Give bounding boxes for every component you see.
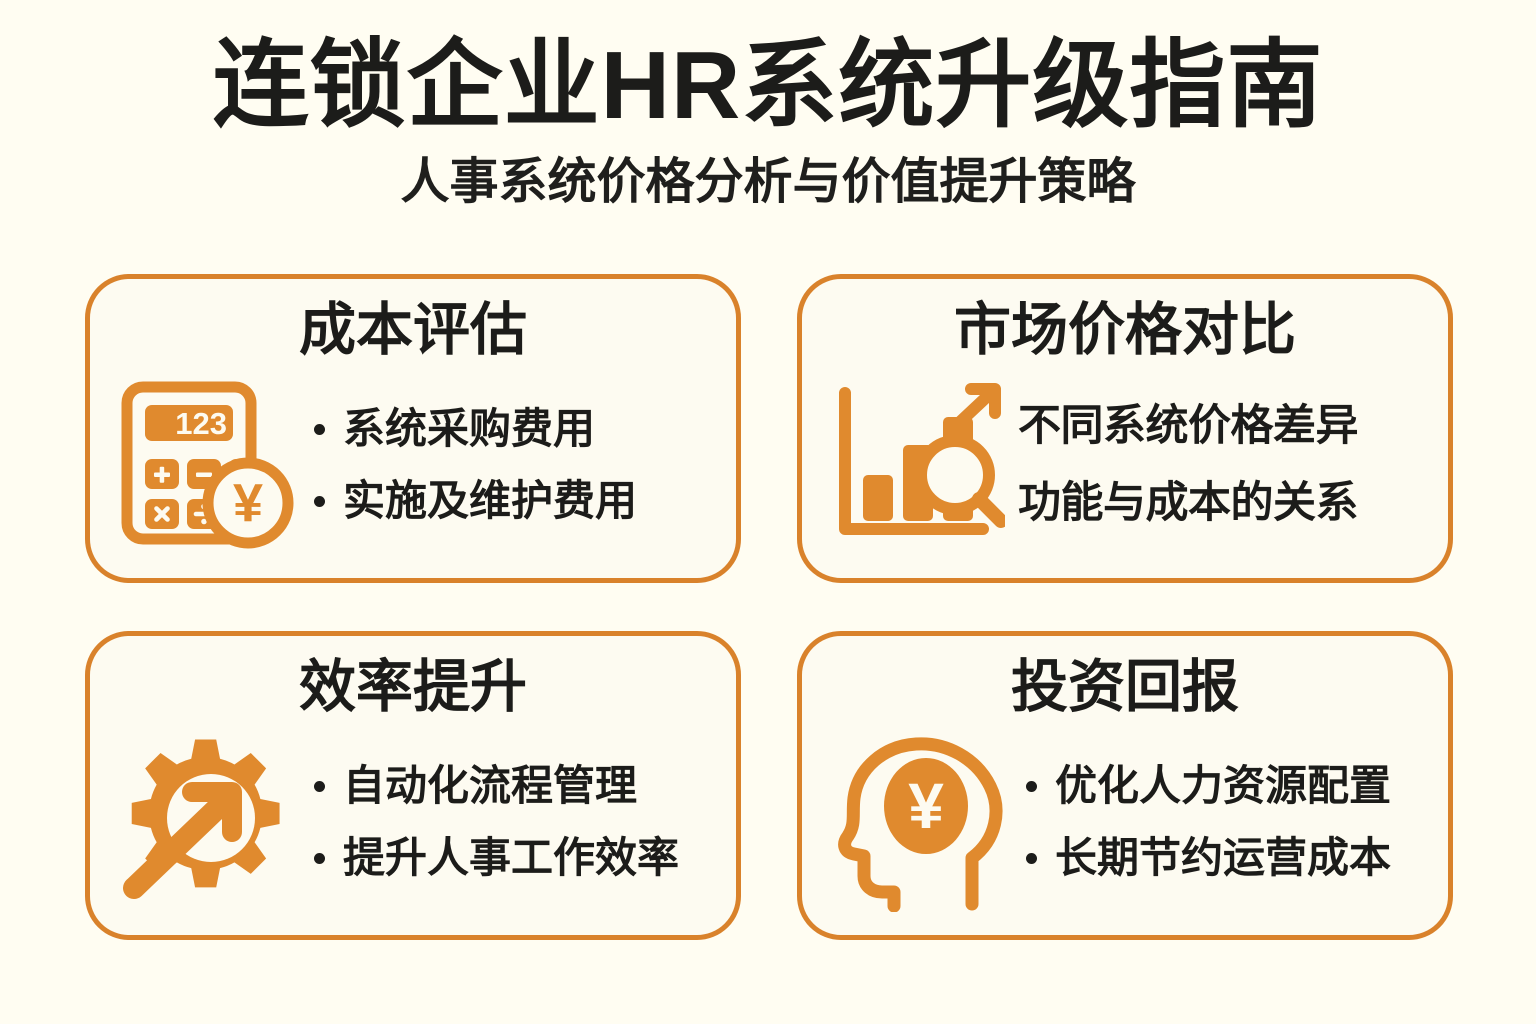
card-cost-evaluation[interactable]: 成本评估 123 — [85, 274, 741, 583]
list-item: 不同系统价格差异 — [1018, 403, 1428, 450]
head-yen-icon: ¥ — [822, 732, 1022, 912]
card-title: 投资回报 — [1011, 656, 1239, 720]
card-body: ¥ 优化人力资源配置 长期节约运营成本 — [822, 720, 1428, 925]
page-subtitle: 人事系统价格分析与价值提升策略 — [0, 154, 1536, 210]
list-item: 系统采购费用 — [314, 406, 716, 452]
list-item: 自动化流程管理 — [314, 763, 716, 809]
card-body: 自动化流程管理 提升人事工作效率 — [110, 720, 716, 925]
calculator-display-value: 123 — [175, 406, 227, 441]
calculator-yen-icon: 123 — [110, 375, 310, 555]
card-return-on-investment[interactable]: 投资回报 ¥ 优化人力资源配置 长期节约运营成本 — [797, 631, 1453, 940]
page-title: 连锁企业HR系统升级指南 — [0, 34, 1536, 138]
card-bullet-list: 自动化流程管理 提升人事工作效率 — [310, 763, 716, 881]
gear-arrow-icon — [110, 732, 310, 912]
list-item: 功能与成本的关系 — [1018, 480, 1428, 527]
card-bullet-list: 系统采购费用 实施及维护费用 — [310, 406, 716, 524]
yen-symbol: ¥ — [908, 770, 944, 842]
bar-chart-magnifier-icon — [822, 375, 1008, 555]
card-bullet-list: 不同系统价格差异 功能与成本的关系 — [1008, 403, 1428, 528]
card-efficiency-improvement[interactable]: 效率提升 自动化流程管理 — [85, 631, 741, 940]
card-bullet-list: 优化人力资源配置 长期节约运营成本 — [1022, 763, 1428, 881]
list-item: 优化人力资源配置 — [1026, 763, 1428, 809]
list-item: 实施及维护费用 — [314, 478, 716, 524]
list-item: 长期节约运营成本 — [1026, 835, 1428, 881]
card-body: 不同系统价格差异 功能与成本的关系 — [822, 363, 1428, 568]
card-market-price-comparison[interactable]: 市场价格对比 — [797, 274, 1453, 583]
poster-header: 连锁企业HR系统升级指南 人事系统价格分析与价值提升策略 — [0, 0, 1536, 210]
card-title: 成本评估 — [299, 299, 527, 363]
yen-symbol: ¥ — [233, 473, 263, 533]
list-item: 提升人事工作效率 — [314, 835, 716, 881]
card-title: 效率提升 — [299, 656, 527, 720]
infographic-poster: 连锁企业HR系统升级指南 人事系统价格分析与价值提升策略 成本评估 123 — [0, 0, 1536, 1024]
card-title: 市场价格对比 — [954, 299, 1296, 363]
card-body: 123 — [110, 363, 716, 568]
card-grid: 成本评估 123 — [85, 274, 1453, 940]
